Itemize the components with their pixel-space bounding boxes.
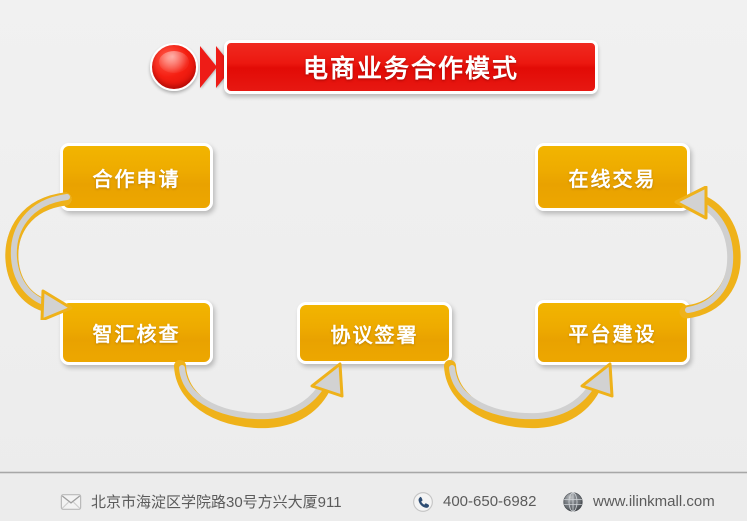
flow-node-label: 合作申请 — [93, 163, 181, 192]
footer-phone-text: 400-650-6982 — [443, 493, 536, 510]
flow-node-platform[interactable]: 平台建设 — [535, 300, 690, 365]
phone-icon — [412, 491, 434, 513]
curved-arrow-right-icon — [168, 358, 353, 438]
title-banner: 电商业务合作模式 — [224, 40, 598, 94]
flow-node-apply[interactable]: 合作申请 — [60, 143, 213, 211]
curved-arrow-right-icon — [438, 358, 623, 438]
flow-node-trade[interactable]: 在线交易 — [535, 143, 690, 211]
page-title: 电商业务合作模式 — [303, 49, 519, 85]
footer-phone: 400-650-6982 — [412, 491, 536, 513]
flow-node-sign[interactable]: 协议签署 — [297, 302, 452, 364]
chevron-right-icon — [200, 46, 217, 88]
flow-node-audit[interactable]: 智汇核查 — [60, 300, 213, 365]
flow-node-label: 智汇核查 — [93, 318, 181, 347]
footer: 北京市海淀区学院路30号方兴大厦911 400-650-6982 — [0, 482, 747, 521]
footer-address: 北京市海淀区学院路30号方兴大厦911 — [60, 491, 342, 513]
slide-canvas: 电商业务合作模式 合作申请 智汇核查 协议签署 平台建设 在线交易 — [0, 0, 747, 521]
red-circle-icon — [150, 43, 198, 91]
footer-website-text: www.ilinkmall.com — [593, 493, 715, 510]
flow-node-label: 平台建设 — [569, 318, 657, 347]
footer-divider — [0, 471, 747, 474]
envelope-icon — [60, 491, 82, 513]
globe-icon — [562, 491, 584, 513]
flow-node-label: 协议签署 — [331, 319, 419, 348]
footer-website: www.ilinkmall.com — [562, 491, 715, 513]
footer-address-text: 北京市海淀区学院路30号方兴大厦911 — [91, 491, 342, 512]
flow-node-label: 在线交易 — [569, 163, 657, 192]
